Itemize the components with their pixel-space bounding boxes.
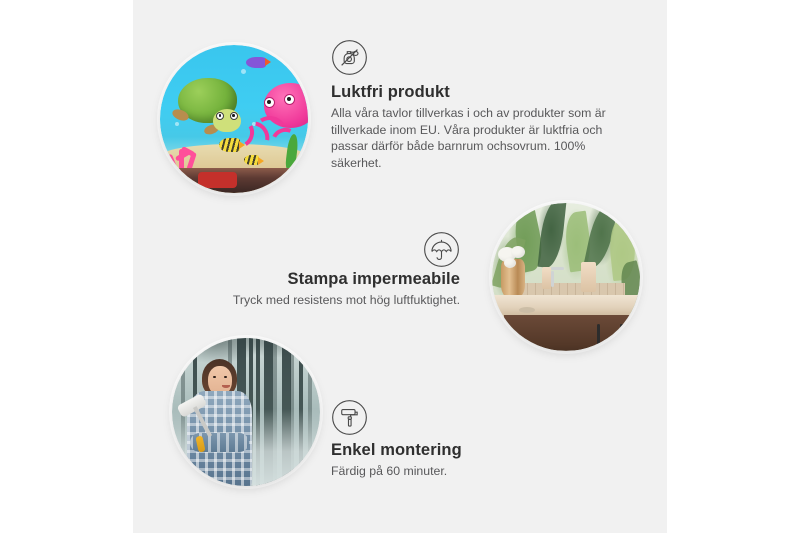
mural-room-edge xyxy=(160,168,308,193)
paint-roller-icon xyxy=(331,399,368,436)
feature-text-odourless: Luktfri produkt Alla våra tavlor tillver… xyxy=(331,82,631,171)
no-perfume-icon xyxy=(331,39,368,76)
product-feature-infographic: Luktfri produkt Alla våra tavlor tillver… xyxy=(0,0,800,533)
feature-title-waterproof: Stampa impermeabile xyxy=(133,269,460,289)
feature-title-easy-mounting: Enkel montering xyxy=(331,440,631,460)
feature-text-waterproof: Stampa impermeabile Tryck med resistens … xyxy=(133,269,460,309)
bathroom-botanical-wallpaper-photo xyxy=(492,203,640,351)
feature-description-odourless: Alla våra tavlor tillverkas i och av pro… xyxy=(331,105,631,171)
purple-fish xyxy=(246,57,266,68)
striped-fish-small xyxy=(244,155,259,165)
feature-description-easy-mounting: Färdig på 60 minuter. xyxy=(331,463,631,480)
wooden-vanity-cabinet xyxy=(504,315,640,351)
content-panel: Luktfri produkt Alla våra tavlor tillver… xyxy=(133,0,667,533)
underwater-cartoon-mural-photo xyxy=(160,45,308,193)
feature-description-waterproof: Tryck med resistens mot hög luftfuktighe… xyxy=(133,292,460,309)
umbrella-icon xyxy=(423,231,460,268)
feature-title-odourless: Luktfri produkt xyxy=(331,82,631,102)
pink-coral xyxy=(166,134,210,172)
striped-fish-large xyxy=(219,138,240,152)
feature-text-easy-mounting: Enkel montering Färdig på 60 minuter. xyxy=(331,440,631,480)
woman-with-paint-roller-forest-photo xyxy=(172,338,320,486)
countertop xyxy=(492,295,640,317)
